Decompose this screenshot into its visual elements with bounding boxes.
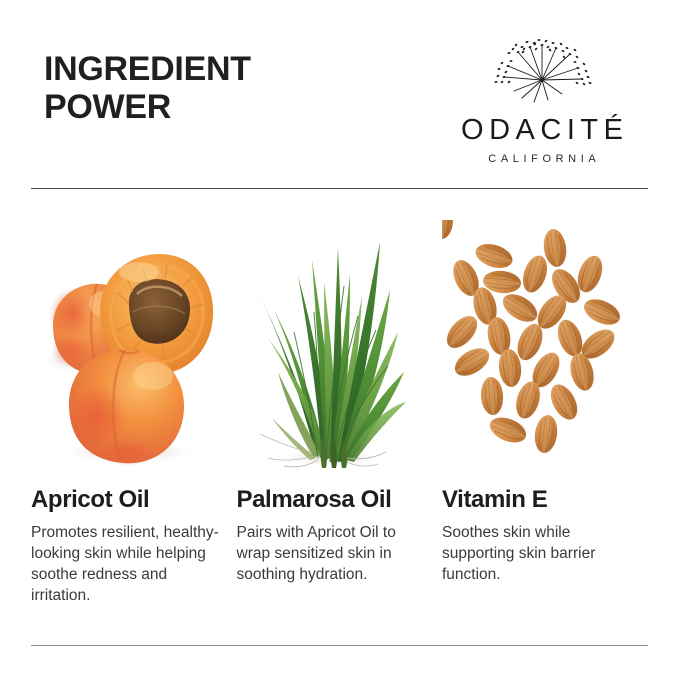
footer-divider bbox=[31, 645, 648, 646]
ingredient-description: Promotes resilient, healthy-looking skin… bbox=[31, 522, 221, 606]
ingredient-power-page: INGREDIENT POWER bbox=[0, 0, 679, 679]
almond-cluster bbox=[442, 227, 627, 457]
ingredient-name: Palmarosa Oil bbox=[237, 486, 427, 514]
brand-locale: CALIFORNIA bbox=[437, 153, 647, 165]
header-divider bbox=[31, 188, 648, 189]
apricot-fruit-image bbox=[33, 220, 219, 470]
umbel-flower-icon bbox=[478, 36, 606, 108]
ingredient-description: Pairs with Apricot Oil to wrap sensitize… bbox=[237, 522, 427, 585]
ingredient-column-vitamin-e: Vitamin E Soothes skin while supporting … bbox=[442, 205, 648, 606]
brand-logo: ODACITÉ CALIFORNIA bbox=[437, 36, 647, 165]
palmarosa-figure bbox=[237, 205, 427, 470]
page-header: INGREDIENT POWER bbox=[0, 0, 679, 188]
ingredients-row: Apricot Oil Promotes resilient, healthy-… bbox=[31, 205, 648, 606]
ingredient-column-apricot-oil: Apricot Oil Promotes resilient, healthy-… bbox=[31, 205, 237, 606]
ingredient-description: Soothes skin while supporting skin barri… bbox=[442, 522, 632, 585]
apricot-whole-front bbox=[69, 350, 184, 466]
page-title: INGREDIENT POWER bbox=[44, 50, 251, 126]
apricot-figure bbox=[31, 205, 221, 470]
palmarosa-grass-image bbox=[238, 220, 424, 470]
almonds-image bbox=[442, 220, 632, 470]
brand-wordmark: ODACITÉ bbox=[437, 114, 647, 146]
grass-blades bbox=[258, 242, 406, 462]
ingredient-column-palmarosa-oil: Palmarosa Oil Pairs with Apricot Oil to … bbox=[237, 205, 443, 606]
almonds-figure bbox=[442, 205, 632, 470]
ingredient-name: Apricot Oil bbox=[31, 486, 221, 514]
ingredient-name: Vitamin E bbox=[442, 486, 632, 514]
